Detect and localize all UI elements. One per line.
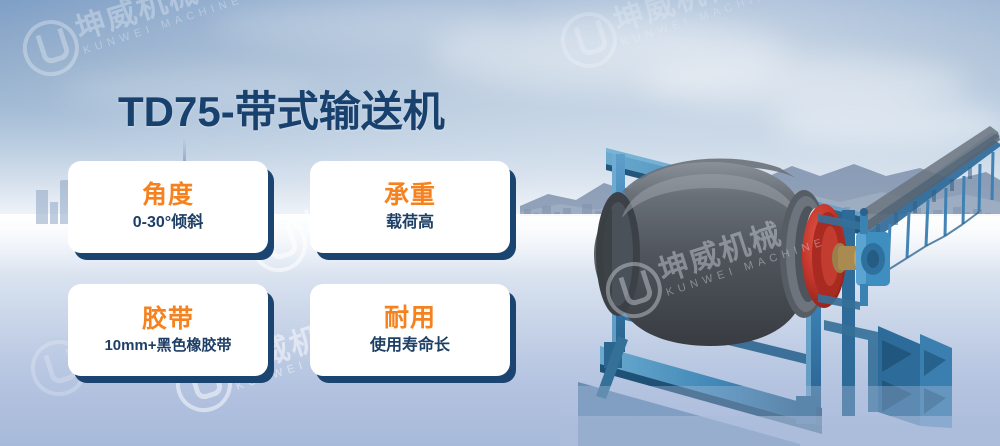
drive-drum xyxy=(594,159,828,346)
page-title: TD75-带式输送机 xyxy=(118,78,445,139)
feature-card-list: 角度 0-30°倾斜 承重 载荷高 胶带 10mm+黑色橡胶带 耐用 使用寿命长 xyxy=(68,161,528,376)
feature-card-belt[interactable]: 胶带 10mm+黑色橡胶带 xyxy=(68,284,268,376)
feature-value: 使用寿命长 xyxy=(370,337,450,355)
product-banner: 坤威机械 KUNWEI MACHINE 坤威机械 KUNWEI MACHINE … xyxy=(0,0,1000,446)
feature-value: 载荷高 xyxy=(386,214,434,232)
feature-key: 角度 xyxy=(142,182,194,208)
feature-card-load-capacity[interactable]: 承重 载荷高 xyxy=(310,161,510,253)
feature-key: 胶带 xyxy=(142,306,194,332)
belt-conveyor-image xyxy=(560,96,1000,446)
feature-key: 耐用 xyxy=(384,305,436,331)
feature-card-angle[interactable]: 角度 0-30°倾斜 xyxy=(68,161,268,253)
feature-key: 承重 xyxy=(384,182,436,208)
feature-value: 0-30°倾斜 xyxy=(133,214,203,232)
feature-card-durability[interactable]: 耐用 使用寿命长 xyxy=(310,284,510,376)
feature-value: 10mm+黑色橡胶带 xyxy=(104,338,231,355)
